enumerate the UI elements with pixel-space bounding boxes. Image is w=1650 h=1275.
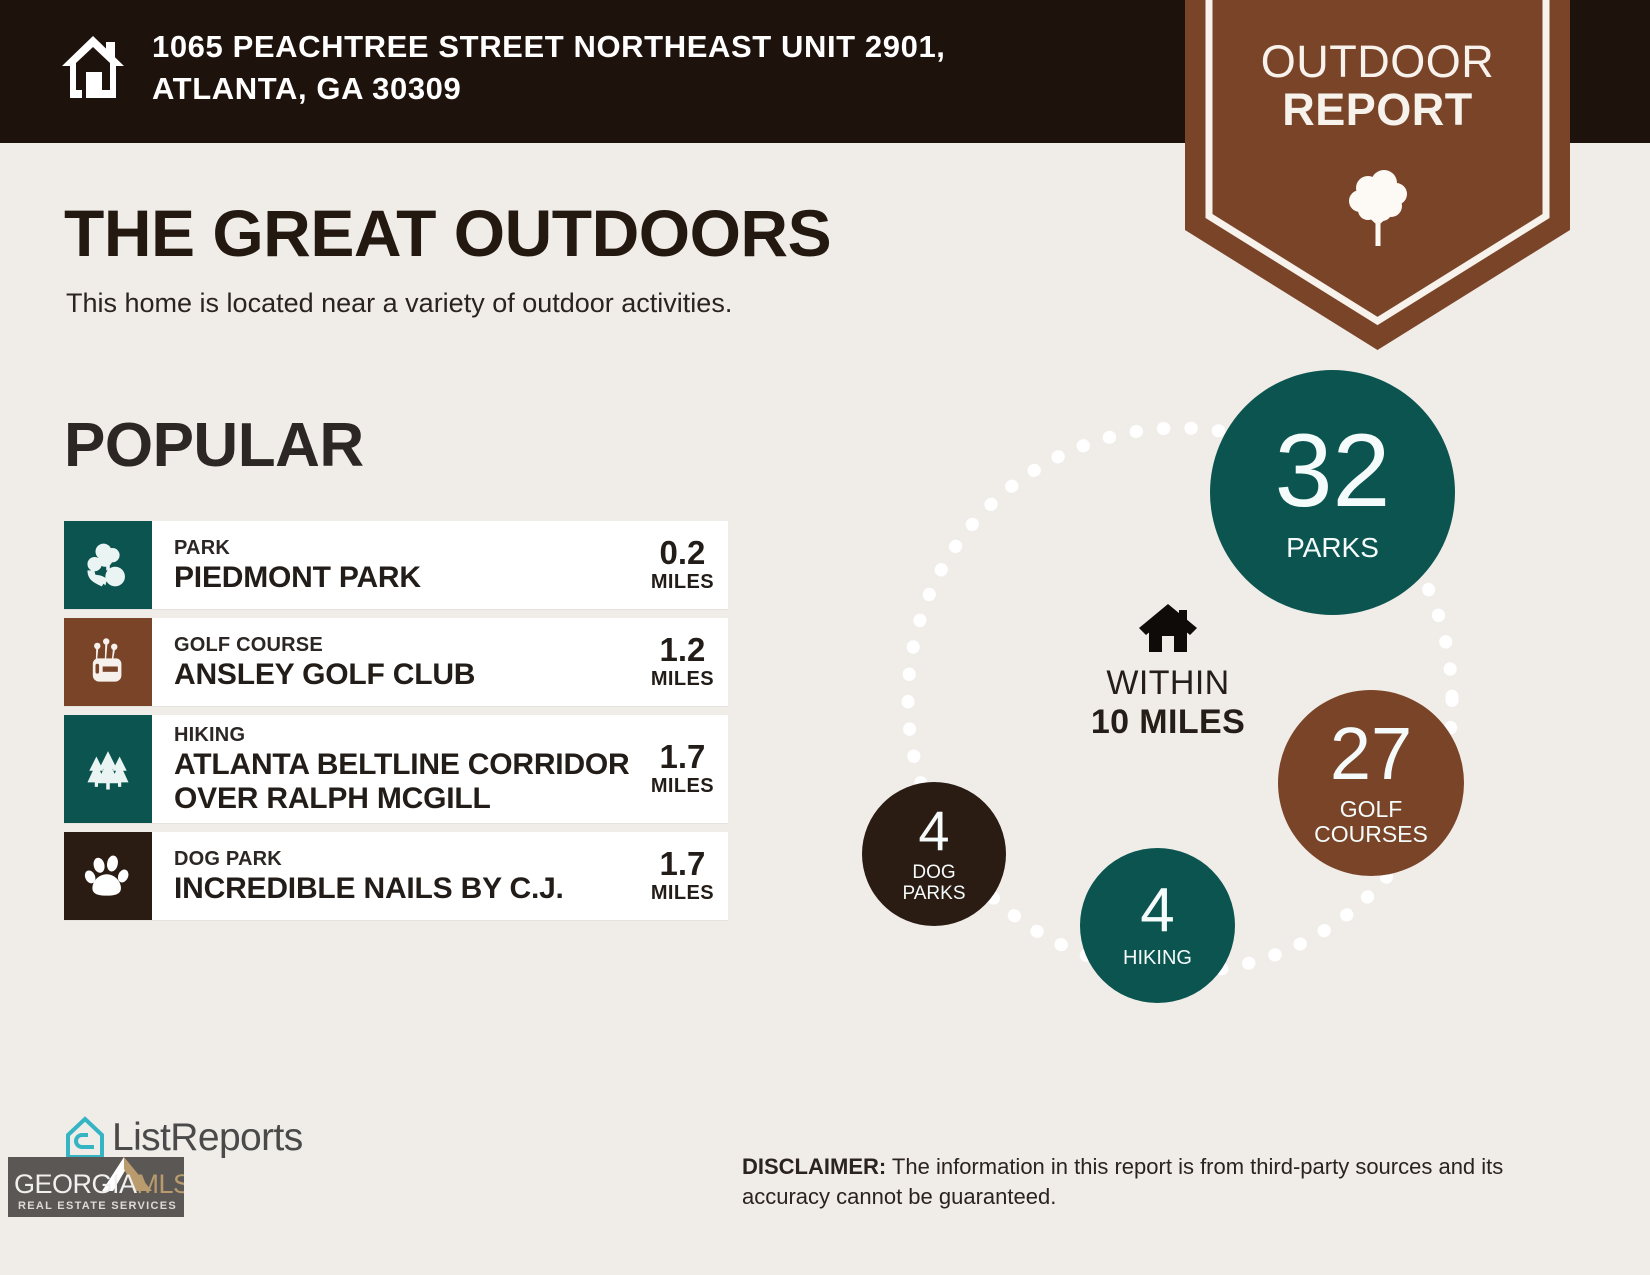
- bubble-parks-label: PARKS: [1286, 533, 1379, 563]
- bubble-parks-value: 32: [1275, 422, 1391, 521]
- pine-trees-icon: [64, 715, 152, 823]
- list-item-distance: 1.7 MILES: [639, 847, 714, 905]
- chart-center-label: WITHIN 10 MILES: [1018, 600, 1318, 743]
- distance-value: 1.7: [651, 847, 714, 882]
- list-item-category: GOLF COURSE: [174, 633, 475, 658]
- chart-center-line1: WITHIN: [1018, 664, 1318, 703]
- home-icon: [56, 30, 130, 104]
- list-item-distance: 1.2 MILES: [639, 633, 714, 691]
- list-item-distance: 0.2 MILES: [639, 536, 714, 594]
- list-item[interactable]: HIKING ATLANTA BELTLINE CORRIDOR OVER RA…: [64, 715, 728, 823]
- tree-icon: [1346, 168, 1410, 250]
- bubble-hiking[interactable]: 4 HIKING: [1080, 848, 1235, 1003]
- outdoor-amenities-chart: 32 PARKS 27 GOLF COURSES 4 HIKING 4 DOG …: [840, 360, 1520, 1040]
- bubble-hiking-value: 4: [1140, 882, 1174, 941]
- list-item-name: PIEDMONT PARK: [174, 561, 421, 595]
- distance-value: 0.2: [651, 536, 714, 571]
- bubble-dog-parks-value: 4: [918, 804, 949, 857]
- outdoor-report-badge: OUTDOOR REPORT: [1185, 0, 1570, 350]
- distance-unit: MILES: [651, 571, 714, 594]
- list-item[interactable]: DOG PARK INCREDIBLE NAILS BY C.J. 1.7 MI…: [64, 832, 728, 920]
- header: 1065 PEACHTREE STREET NORTHEAST UNIT 290…: [56, 26, 946, 110]
- list-item-name: ANSLEY GOLF CLUB: [174, 658, 475, 692]
- chart-center-line2: 10 MILES: [1018, 703, 1318, 742]
- mls-wordmark-georgia: GEORGIA: [14, 1169, 137, 1199]
- list-item-name: INCREDIBLE NAILS BY C.J.: [174, 872, 564, 906]
- list-item-category: HIKING: [174, 723, 630, 748]
- distance-value: 1.7: [651, 740, 714, 775]
- bubble-hiking-label: HIKING: [1123, 948, 1192, 970]
- distance-unit: MILES: [651, 882, 714, 905]
- bubble-golf-courses-value: 27: [1330, 719, 1412, 789]
- property-address: 1065 PEACHTREE STREET NORTHEAST UNIT 290…: [152, 26, 946, 110]
- bubble-dog-parks[interactable]: 4 DOG PARKS: [862, 782, 1006, 926]
- disclaimer-label: DISCLAIMER:: [742, 1154, 886, 1179]
- page-title: THE GREAT OUTDOORS: [64, 195, 831, 271]
- list-item-category: PARK: [174, 536, 421, 561]
- list-item-category: DOG PARK: [174, 847, 564, 872]
- list-item-name: ATLANTA BELTLINE CORRIDOR OVER RALPH MCG…: [174, 748, 630, 815]
- popular-list: PARK PIEDMONT PARK 0.2 MILES: [64, 521, 728, 929]
- page-subtitle: This home is located near a variety of o…: [66, 288, 732, 319]
- paw-print-icon: [64, 832, 152, 920]
- park-trees-icon: [64, 521, 152, 609]
- bubble-golf-courses-label: GOLF COURSES: [1314, 797, 1428, 847]
- listreports-wordmark: ListReports: [112, 1116, 303, 1160]
- georgia-mls-logo: GEORGIAMLS REAL ESTATE SERVICES: [8, 1157, 184, 1217]
- mls-wordmark-mls: MLS: [137, 1169, 184, 1199]
- distance-unit: MILES: [651, 668, 714, 691]
- list-item[interactable]: PARK PIEDMONT PARK 0.2 MILES: [64, 521, 728, 609]
- home-icon: [1137, 600, 1199, 656]
- list-item-distance: 1.7 MILES: [639, 740, 714, 798]
- mls-tagline: REAL ESTATE SERVICES: [18, 1200, 177, 1212]
- bubble-dog-parks-label: DOG PARKS: [902, 863, 965, 904]
- mls-wordmark: GEORGIAMLS: [14, 1169, 184, 1200]
- disclaimer: DISCLAIMER: The information in this repo…: [742, 1152, 1582, 1211]
- golf-bag-icon: [64, 618, 152, 706]
- bubble-parks[interactable]: 32 PARKS: [1210, 370, 1455, 615]
- list-item[interactable]: GOLF COURSE ANSLEY GOLF CLUB 1.2 MILES: [64, 618, 728, 706]
- listreports-house-icon: [64, 1115, 106, 1161]
- section-title-popular: POPULAR: [64, 410, 364, 481]
- listreports-logo[interactable]: ListReports: [64, 1115, 303, 1161]
- distance-value: 1.2: [651, 633, 714, 668]
- distance-unit: MILES: [651, 775, 714, 798]
